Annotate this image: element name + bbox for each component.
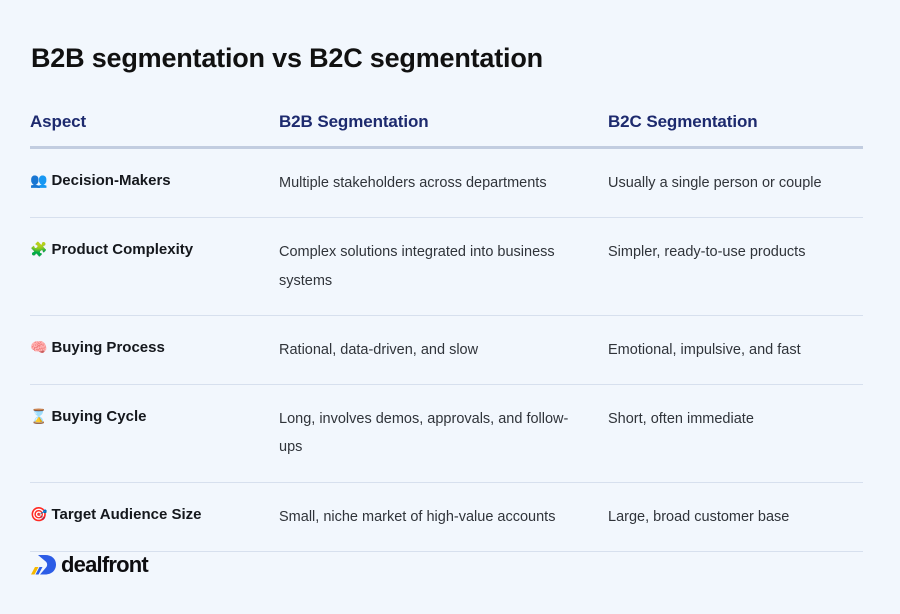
- b2b-cell: Multiple stakeholders across departments: [279, 148, 608, 218]
- aspect-label: Target Audience Size: [51, 506, 201, 523]
- aspect-cell: 👥Decision-Makers: [30, 148, 279, 218]
- brand-footer: dealfront: [30, 552, 148, 578]
- column-header-aspect: Aspect: [30, 112, 279, 148]
- b2c-cell: Simpler, ready-to-use products: [608, 218, 863, 316]
- b2c-cell: Large, broad customer base: [608, 482, 863, 551]
- puzzle-piece-icon: 🧩: [30, 241, 47, 259]
- busts-in-silhouette-icon: 👥: [30, 172, 47, 190]
- direct-hit-target-icon: 🎯: [30, 506, 47, 524]
- table-row: 🎯Target Audience Size Small, niche marke…: [30, 482, 863, 551]
- b2b-cell: Small, niche market of high-value accoun…: [279, 482, 608, 551]
- table-header-row: Aspect B2B Segmentation B2C Segmentation: [30, 112, 863, 148]
- table-body: 👥Decision-Makers Multiple stakeholders a…: [30, 148, 863, 552]
- aspect-cell: ⌛Buying Cycle: [30, 385, 279, 483]
- b2c-cell: Usually a single person or couple: [608, 148, 863, 218]
- table-row: 🧠Buying Process Rational, data-driven, a…: [30, 315, 863, 384]
- b2c-cell: Emotional, impulsive, and fast: [608, 315, 863, 384]
- column-header-b2b: B2B Segmentation: [279, 112, 608, 148]
- b2b-cell: Complex solutions integrated into busine…: [279, 218, 608, 316]
- table-row: ⌛Buying Cycle Long, involves demos, appr…: [30, 385, 863, 483]
- dealfront-logo-mark: [30, 552, 57, 578]
- table-row: 👥Decision-Makers Multiple stakeholders a…: [30, 148, 863, 218]
- column-header-b2c: B2C Segmentation: [608, 112, 863, 148]
- comparison-table: Aspect B2B Segmentation B2C Segmentation…: [30, 112, 863, 552]
- aspect-cell: 🎯Target Audience Size: [30, 482, 279, 551]
- table-header: Aspect B2B Segmentation B2C Segmentation: [30, 112, 863, 148]
- aspect-label: Decision-Makers: [51, 172, 170, 189]
- hourglass-icon: ⌛: [30, 408, 47, 426]
- page-title: B2B segmentation vs B2C segmentation: [31, 0, 870, 74]
- aspect-label: Product Complexity: [51, 241, 193, 258]
- table-row: 🧩Product Complexity Complex solutions in…: [30, 218, 863, 316]
- aspect-cell: 🧩Product Complexity: [30, 218, 279, 316]
- b2b-cell: Rational, data-driven, and slow: [279, 315, 608, 384]
- aspect-label: Buying Process: [51, 339, 164, 356]
- aspect-label: Buying Cycle: [51, 408, 146, 425]
- aspect-cell: 🧠Buying Process: [30, 315, 279, 384]
- comparison-infographic: B2B segmentation vs B2C segmentation Asp…: [0, 0, 900, 614]
- b2b-cell: Long, involves demos, approvals, and fol…: [279, 385, 608, 483]
- dealfront-wordmark: dealfront: [61, 554, 148, 576]
- brain-icon: 🧠: [30, 339, 47, 357]
- b2c-cell: Short, often immediate: [608, 385, 863, 483]
